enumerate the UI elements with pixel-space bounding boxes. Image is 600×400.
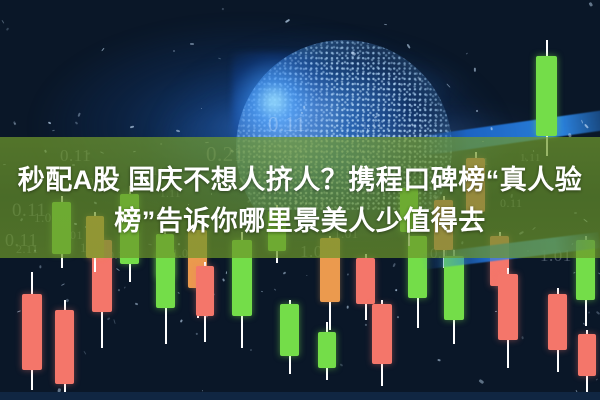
candlestick [156, 252, 175, 344]
headline-line-2: 榜”告诉你哪里景美人少值得去 [0, 201, 600, 242]
headline-line-1: 秒配A股 国庆不想人挤人？携程口碑榜“真人验 [0, 160, 600, 201]
candlestick [498, 268, 518, 368]
candlestick [372, 300, 392, 386]
candlestick-body [156, 252, 175, 308]
candlestick [55, 300, 74, 400]
article-cover-image: 0.110.110.111.011.011.010.110.111.110.11… [0, 0, 600, 400]
candlestick [578, 330, 596, 392]
candlestick [22, 272, 42, 390]
candlestick-body [356, 258, 375, 304]
candlestick-body [22, 294, 42, 370]
candlestick [548, 288, 567, 372]
candlestick-body [548, 294, 567, 350]
candlestick [318, 322, 336, 380]
candlestick-body [280, 304, 299, 356]
candlestick-body [498, 274, 518, 340]
candlestick-body [372, 304, 392, 364]
candlestick-body [578, 334, 596, 376]
bottom-strip [0, 392, 600, 400]
headline: 秒配A股 国庆不想人挤人？携程口碑榜“真人验 榜”告诉你哪里景美人少值得去 [0, 160, 600, 242]
candlestick-body [318, 332, 336, 368]
candlestick [280, 300, 299, 374]
candlestick-body [196, 266, 214, 316]
candlestick-body [536, 56, 557, 136]
candlestick-body [55, 310, 74, 384]
candlestick [196, 262, 214, 342]
